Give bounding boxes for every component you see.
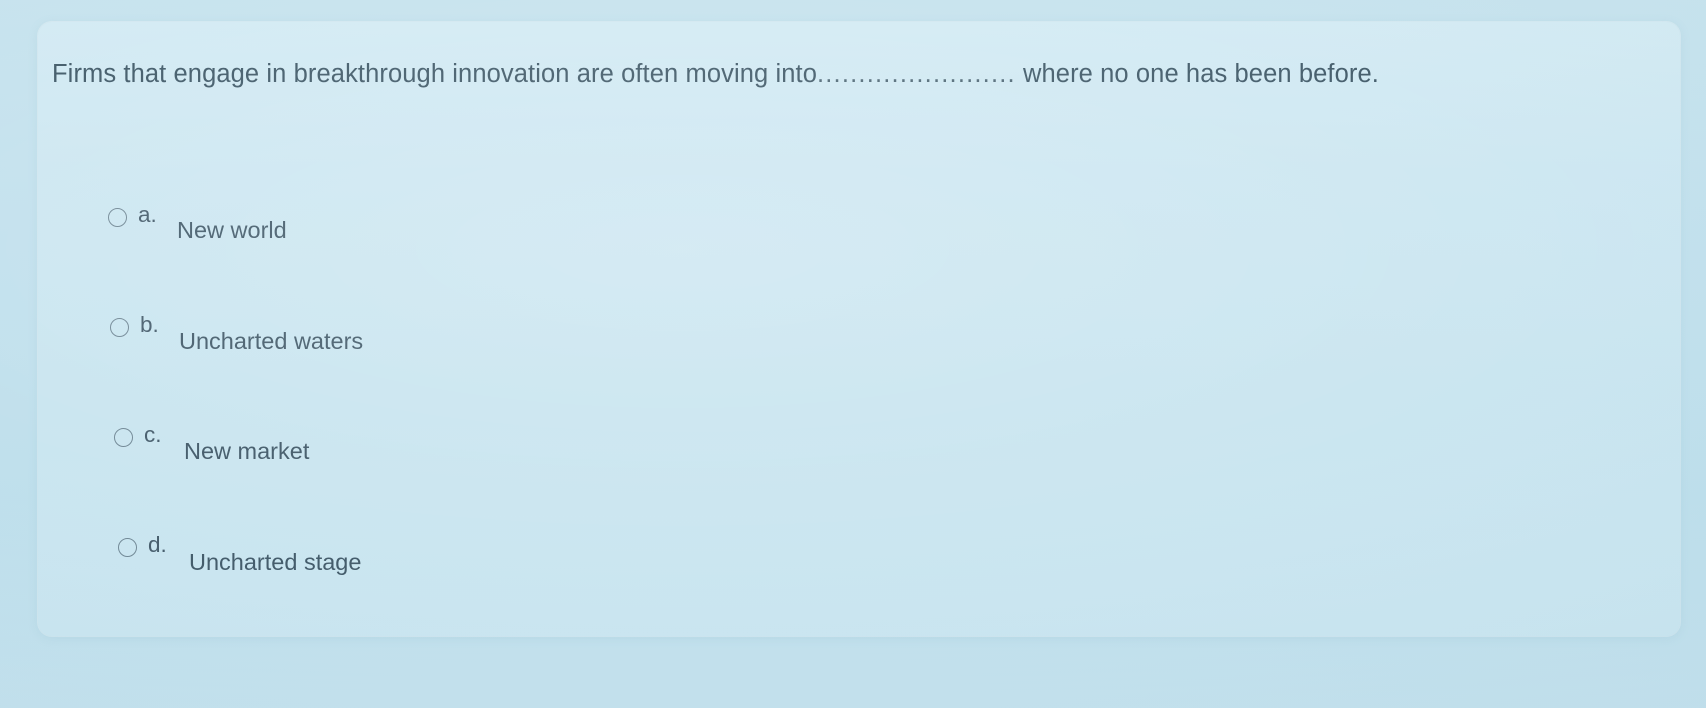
radio-button-icon[interactable] <box>110 318 129 337</box>
option-label[interactable]: Uncharted waters <box>179 327 363 355</box>
radio-button-icon[interactable] <box>118 538 137 557</box>
option-letter: a. <box>138 202 157 228</box>
question-blank-dots: ........................ <box>817 60 1016 88</box>
radio-button-icon[interactable] <box>114 428 133 447</box>
answer-option-a[interactable]: a. New world <box>38 172 1680 282</box>
option-letter: c. <box>144 422 162 448</box>
quiz-card-content: Firms that engage in breakthrough innova… <box>38 22 1680 636</box>
option-letter: d. <box>148 532 167 558</box>
answer-option-c[interactable]: c. New market <box>38 392 1680 502</box>
page-background: Firms that engage in breakthrough innova… <box>0 0 1706 708</box>
option-label[interactable]: New market <box>184 437 309 465</box>
question-text-before-blank: Firms that engage in breakthrough innova… <box>52 60 817 88</box>
option-label[interactable]: New world <box>177 216 287 244</box>
option-label[interactable]: Uncharted stage <box>189 548 361 576</box>
quiz-question-card: Firms that engage in breakthrough innova… <box>38 22 1680 636</box>
radio-button-icon[interactable] <box>108 208 127 227</box>
option-letter: b. <box>140 312 159 338</box>
answer-option-b[interactable]: b. Uncharted waters <box>38 282 1680 392</box>
answer-option-d[interactable]: d. Uncharted stage <box>38 502 1680 612</box>
question-text: Firms that engage in breakthrough innova… <box>52 58 1379 90</box>
question-text-after-blank: where no one has been before. <box>1016 60 1379 88</box>
answer-options-list: a. New world b. Uncharted waters c. New … <box>38 172 1680 612</box>
